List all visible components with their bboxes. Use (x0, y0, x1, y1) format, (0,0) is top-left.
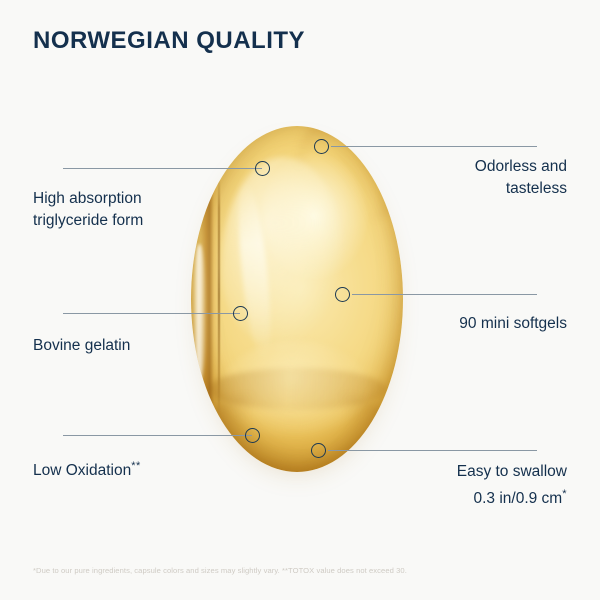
callout-label-low-oxidation: Low Oxidation** (33, 455, 248, 482)
infographic-canvas: NORWEGIAN QUALITY High absorption trigly… (0, 0, 600, 600)
callout-text-high-absorption: High absorption triglyceride form (33, 190, 143, 229)
callout-label-bovine-gelatin: Bovine gelatin (33, 335, 248, 357)
callout-line-odorless-tasteless (331, 146, 537, 147)
callout-marker-odorless-tasteless (314, 139, 329, 154)
callout-line-high-absorption (63, 168, 262, 169)
callout-line-low-oxidation (63, 435, 252, 436)
callout-text-bovine-gelatin: Bovine gelatin (33, 337, 130, 354)
callout-label-easy-to-swallow: Easy to swallow 0.3 in/0.9 cm* (372, 461, 567, 510)
callout-superscript-low-oxidation: ** (131, 460, 141, 472)
footnote: *Due to our pure ingredients, capsule co… (33, 566, 407, 575)
callout-text-odorless-tasteless: Odorless and tasteless (475, 158, 567, 197)
callout-line-easy-to-swallow (328, 450, 537, 451)
callout-line-mini-softgels (352, 294, 537, 295)
callout-label-high-absorption: High absorption triglyceride form (33, 188, 248, 232)
callout-text-mini-softgels: 90 mini softgels (459, 315, 567, 332)
callout-label-odorless-tasteless: Odorless and tasteless (372, 156, 567, 200)
callout-marker-bovine-gelatin (233, 306, 248, 321)
callout-text-low-oxidation: Low Oxidation (33, 462, 131, 479)
callout-text-easy-to-swallow: Easy to swallow 0.3 in/0.9 cm (457, 463, 567, 507)
callout-label-mini-softgels: 90 mini softgels (372, 313, 567, 335)
capsule-main-gloss (221, 157, 344, 351)
callout-marker-mini-softgels (335, 287, 350, 302)
page-title: NORWEGIAN QUALITY (33, 27, 305, 55)
callout-superscript-easy-to-swallow: * (562, 488, 567, 500)
callout-marker-high-absorption (255, 161, 270, 176)
callout-marker-easy-to-swallow (311, 443, 326, 458)
callout-marker-low-oxidation (245, 428, 260, 443)
callout-line-bovine-gelatin (63, 313, 240, 314)
